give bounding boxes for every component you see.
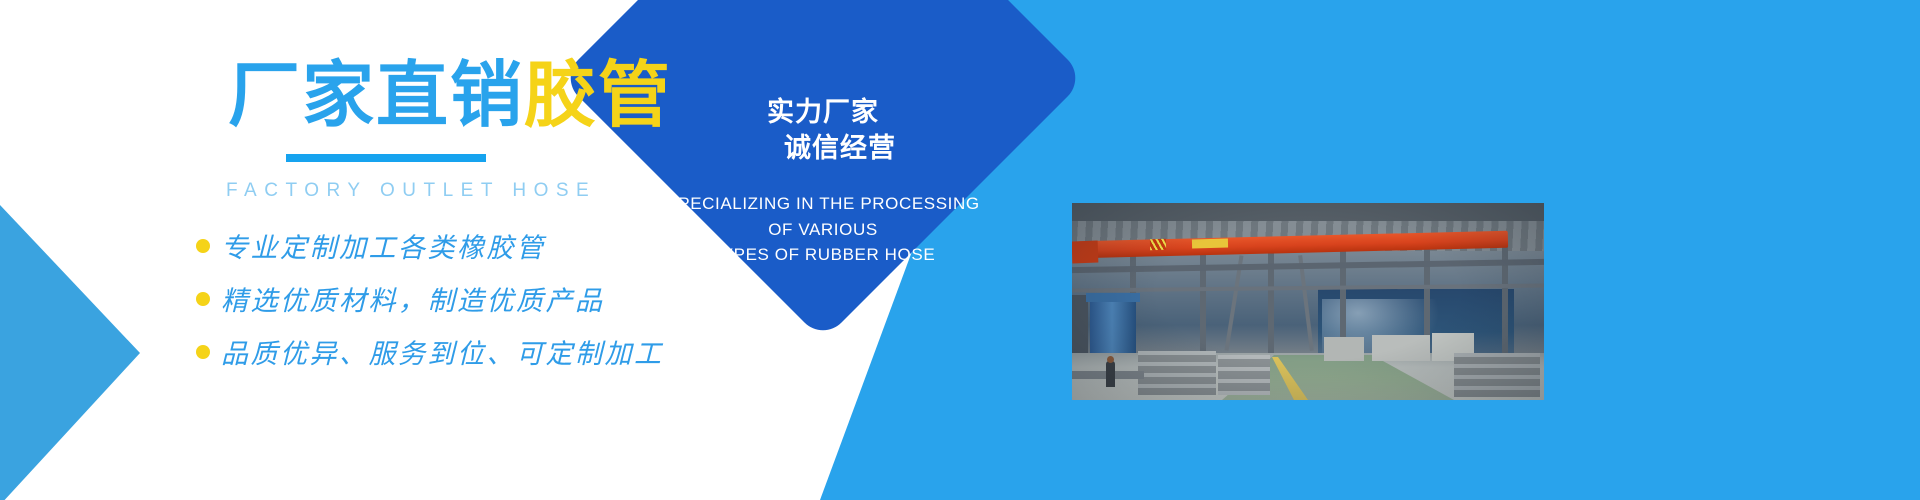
left-chevron-shape bbox=[0, 205, 140, 500]
feature-text-2: 精选优质材料，制造优质产品 bbox=[221, 279, 605, 318]
subtitle-english: FACTORY OUTLET HOSE bbox=[226, 180, 716, 202]
bullet-dot-icon bbox=[196, 239, 210, 253]
list-item: 精选优质材料，制造优质产品 bbox=[196, 279, 716, 318]
list-item: 专业定制加工各类橡胶管 bbox=[196, 226, 716, 265]
photo-vignette bbox=[1072, 203, 1544, 400]
headline-yellow-part: 胶管 bbox=[524, 56, 672, 136]
list-item: 品质优异、服务到位、可定制加工 bbox=[196, 332, 716, 371]
diamond-chinese-heading: 实力厂家 诚信经营 bbox=[750, 94, 896, 166]
headline-blue-part: 厂家直销 bbox=[228, 56, 524, 136]
feature-list: 专业定制加工各类橡胶管 精选优质材料，制造优质产品 品质优异、服务到位、可定制加… bbox=[196, 226, 716, 371]
factory-photo bbox=[1072, 203, 1544, 400]
feature-text-1: 专业定制加工各类橡胶管 bbox=[221, 226, 546, 265]
bullet-dot-icon bbox=[196, 345, 210, 359]
feature-text-3: 品质优异、服务到位、可定制加工 bbox=[221, 332, 664, 371]
title-underline-bar bbox=[286, 154, 486, 162]
promo-banner: 实力厂家 诚信经营 SPECIALIZING IN THE PROCESSING… bbox=[0, 0, 1920, 500]
diamond-cn-line-2: 诚信经营 bbox=[750, 130, 896, 166]
bullet-dot-icon bbox=[196, 292, 210, 306]
diamond-cn-line-1: 实力厂家 bbox=[767, 97, 879, 127]
page-title: 厂家直销胶管 bbox=[228, 60, 716, 132]
headline-block: 厂家直销胶管 FACTORY OUTLET HOSE 专业定制加工各类橡胶管 精… bbox=[196, 60, 716, 385]
